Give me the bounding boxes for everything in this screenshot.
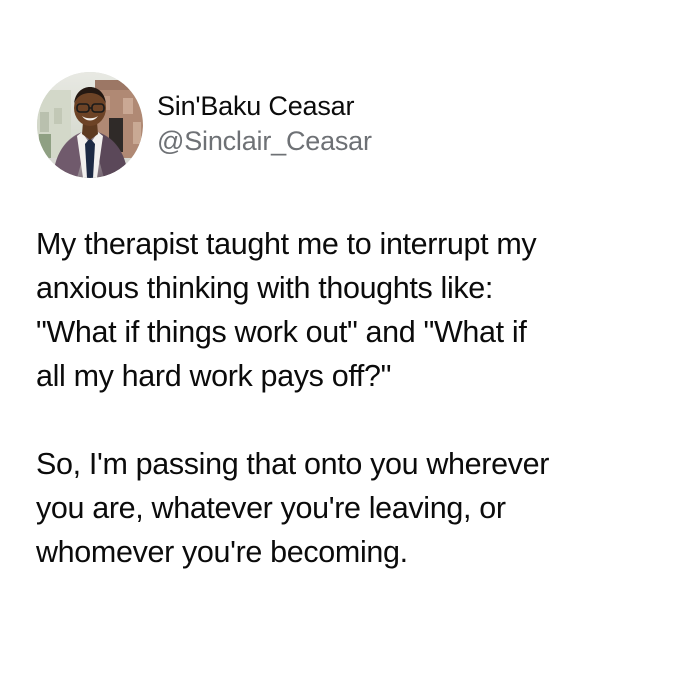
tweet-header: Sin'Baku Ceasar @Sinclair_Ceasar [37,72,372,178]
author-display-name[interactable]: Sin'Baku Ceasar [157,90,372,123]
tweet-body: My therapist taught me to interrupt my a… [36,222,676,574]
avatar-photo-icon [37,72,143,178]
author-handle[interactable]: @Sinclair_Ceasar [157,125,372,158]
avatar[interactable] [37,72,143,178]
author-identity: Sin'Baku Ceasar @Sinclair_Ceasar [157,90,372,160]
tweet-card: Sin'Baku Ceasar @Sinclair_Ceasar My ther… [0,0,700,700]
tweet-paragraph-2: So, I'm passing that onto you wherever y… [36,442,676,574]
tweet-paragraph-1: My therapist taught me to interrupt my a… [36,222,676,398]
paragraph-spacer [36,398,676,442]
